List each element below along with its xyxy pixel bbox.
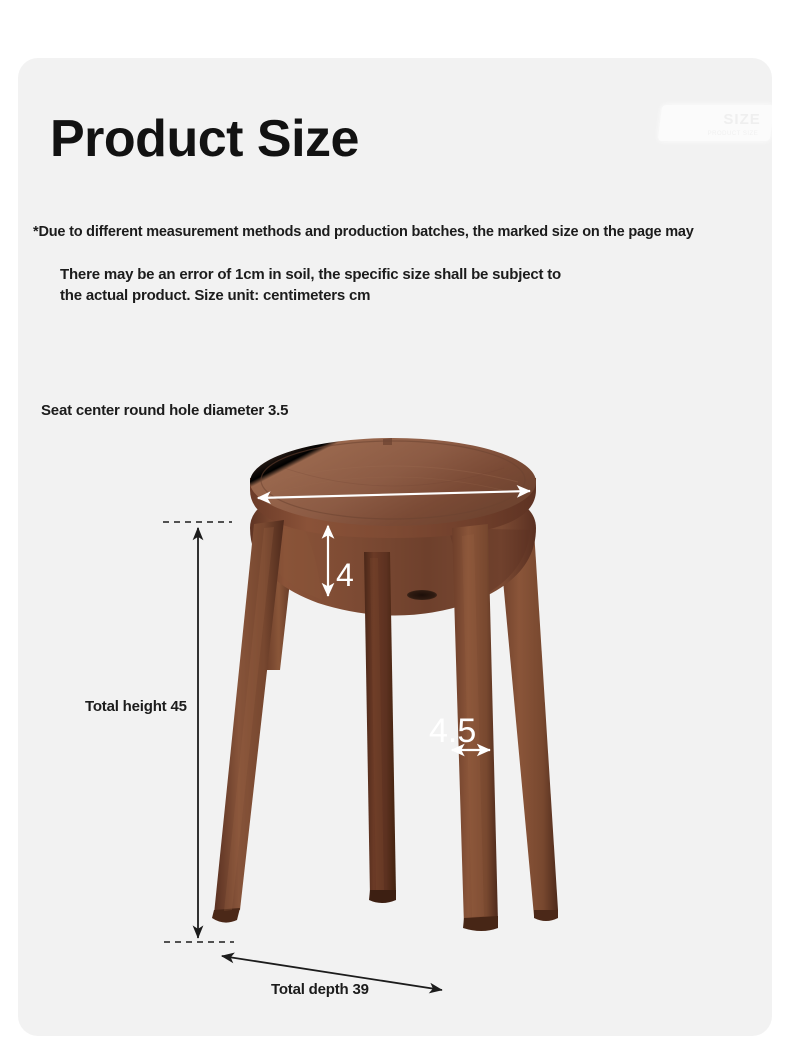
stool-diagram: 4 4.5 xyxy=(18,58,772,1036)
product-size-card: SIZE PRODUCT SIZE Product Size *Due to d… xyxy=(18,58,772,1036)
stool-leg-back-right xyxy=(498,526,558,921)
stool-seat-top xyxy=(250,438,536,526)
total-depth-dimension xyxy=(222,956,442,990)
leg-width-value: 4.5 xyxy=(429,712,476,750)
seat-center-hole xyxy=(407,589,437,600)
stool-leg-front-left xyxy=(212,520,284,923)
seat-thickness-value: 4 xyxy=(336,557,354,593)
